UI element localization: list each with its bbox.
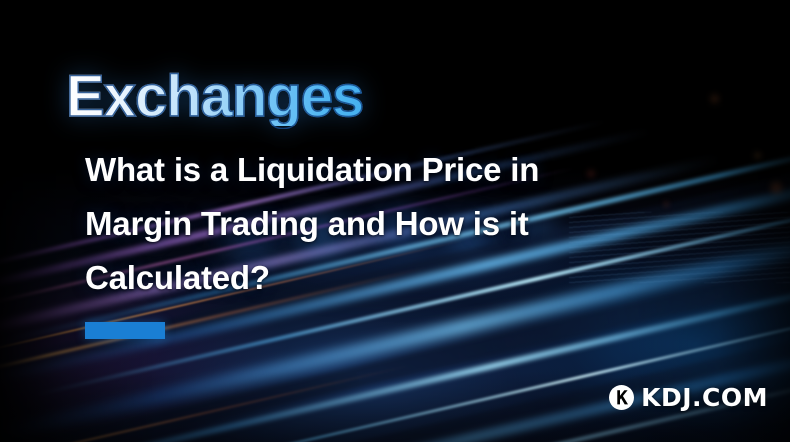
kdj-k-icon	[609, 385, 634, 410]
site-logo-text: KDJ.COM	[641, 385, 768, 410]
site-logo[interactable]: KDJ.COM	[609, 385, 768, 410]
accent-bar	[85, 322, 165, 339]
article-hero-banner: Exchanges What is a Liquidation Price in…	[0, 0, 790, 442]
headline-line-2: Margin Trading and How is it	[85, 197, 645, 251]
category-label: Exchanges	[66, 68, 363, 126]
headline-line-1: What is a Liquidation Price in	[85, 143, 645, 197]
headline-line-3: Calculated?	[85, 251, 645, 305]
page-title: What is a Liquidation Price in Margin Tr…	[85, 143, 645, 305]
banner-content: Exchanges What is a Liquidation Price in…	[0, 0, 790, 442]
